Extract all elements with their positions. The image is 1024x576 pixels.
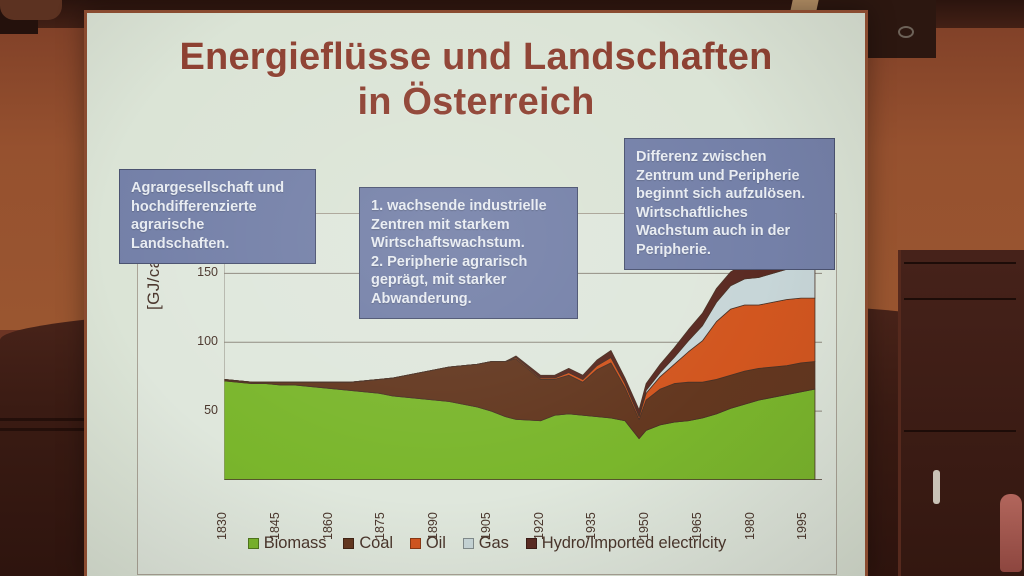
projection-screen: Energieflüsse und Landschaften in Österr… [84, 10, 868, 576]
callout-box-differenz-zentrum-peripherie: Differenz zwischen Zentrum und Peripheri… [624, 138, 835, 270]
legend-swatch-icon [526, 538, 537, 549]
speaker-knob [898, 26, 914, 38]
slide-title-line-1: Energieflüsse und Landschaften [180, 36, 773, 78]
legend-item: Oil [410, 534, 446, 553]
legend-item: Biomass [248, 534, 327, 553]
legend-swatch-icon [343, 538, 354, 549]
legend-label: Gas [479, 534, 509, 553]
foreground-object [1000, 494, 1022, 572]
legend-swatch-icon [410, 538, 421, 549]
door-trim-top [904, 262, 1016, 264]
slide-title-line-2: in Österreich [87, 80, 865, 125]
chart-legend: BiomassCoalOilGasHydro/Imported electric… [138, 534, 836, 553]
legend-swatch-icon [463, 538, 474, 549]
room-photo-background: Energieflüsse und Landschaften in Österr… [0, 0, 1024, 576]
y-tick-label: 100 [184, 334, 218, 348]
legend-label: Coal [359, 534, 393, 553]
door-trim-mid [904, 298, 1016, 300]
y-tick-labels: 50100150 [174, 232, 218, 480]
legend-label: Hydro/Imported electricity [542, 534, 726, 553]
door-handle [933, 470, 940, 504]
legend-label: Oil [426, 534, 446, 553]
door-trim-low [904, 430, 1016, 432]
legend-swatch-icon [248, 538, 259, 549]
legend-item: Gas [463, 534, 509, 553]
legend-item: Coal [343, 534, 393, 553]
legend-label: Biomass [264, 534, 327, 553]
y-tick-label: 50 [184, 403, 218, 417]
slide-title: Energieflüsse und Landschaften in Österr… [87, 35, 865, 125]
legend-item: Hydro/Imported electricity [526, 534, 726, 553]
ceiling-lamp [0, 0, 62, 20]
y-tick-label: 150 [184, 265, 218, 279]
callout-box-agrargesellschaft: Agrargesellschaft und hochdifferenzierte… [119, 169, 316, 264]
x-tick-labels: 1830184518601875189019051920193519501965… [224, 486, 822, 540]
callout-box-industrielle-zentren: 1. wachsende industrielle Zentren mit st… [359, 187, 578, 319]
